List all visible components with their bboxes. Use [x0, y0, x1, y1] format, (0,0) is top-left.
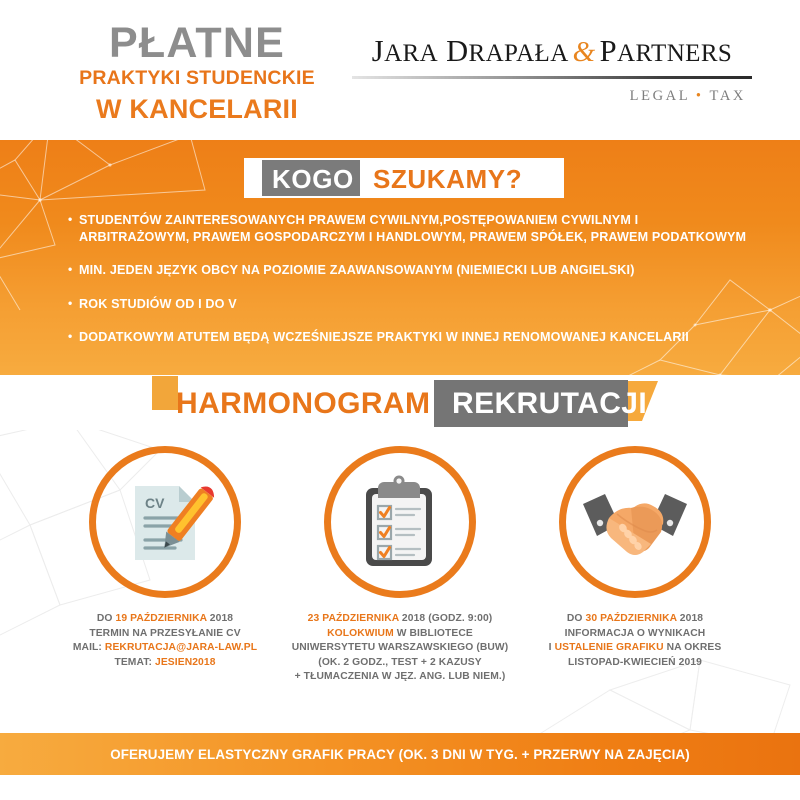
headline-block: PŁATNE PRAKTYKI STUDENCKIE W KANCELARII: [72, 22, 322, 127]
caption-line: DO 19 PAŹDZIERNIKA 2018: [32, 612, 298, 627]
step-icon-ring: [324, 446, 476, 598]
schedule-step: 23 PAŹDZIERNIKA 2018 (GODZ. 9:00) KOLOKW…: [267, 440, 533, 685]
step-icon-ring: CV: [89, 446, 241, 598]
caption-seg: LISTOPAD-KWIECIEŃ 2019: [568, 657, 702, 668]
requirement-item: ROK STUDIÓW OD I DO V: [68, 296, 748, 313]
caption-line: (OK. 2 GODZ., TEST + 2 KAZUSY: [267, 656, 533, 671]
requirement-item: MIN. JEDEN JĘZYK OBCY NA POZIOMIE ZAAWAN…: [68, 262, 748, 279]
caption-seg: 2018: [207, 613, 233, 624]
caption-line: + TŁUMACZENIA W JĘZ. ANG. LUB NIEM.): [267, 670, 533, 685]
logo-tagline: LEGAL • TAX: [352, 88, 752, 105]
caption-seg: DO: [97, 613, 116, 624]
schedule-step: CV DO 19 PAŹDZIERNIKA 2018 TERMIN NA PRZ…: [32, 440, 298, 670]
step-caption: 23 PAŹDZIERNIKA 2018 (GODZ. 9:00) KOLOKW…: [267, 612, 533, 685]
caption-seg: 2018: [677, 613, 703, 624]
firm-name-d: D: [446, 34, 468, 68]
caption-seg: KOLOKWIUM: [327, 628, 394, 639]
firm-name-rapala: RAPAŁA: [469, 40, 569, 67]
requirement-item: DODATKOWYM ATUTEM BĘDĄ WCZEŚNIEJSZE PRAK…: [68, 329, 748, 346]
caption-line: I USTALENIE GRAFIKU NA OKRES: [502, 641, 768, 656]
schedule-left-tab: [152, 376, 178, 410]
caption-line: TEMAT: JESIEN2018: [32, 656, 298, 671]
caption-seg: TERMIN NA PRZESYŁANIE CV: [89, 628, 240, 639]
schedule-title-orange: HARMONOGRAM: [176, 387, 430, 421]
caption-seg: DO: [567, 613, 586, 624]
caption-line: MAIL: REKRUTACJA@JARA-LAW.PL: [32, 641, 298, 656]
firm-name: JARA DRAPAŁA&PARTNERS: [352, 34, 752, 69]
caption-seg: 23 PAŹDZIERNIKA: [308, 613, 399, 624]
footer-text: OFERUJEMY ELASTYCZNY GRAFIK PRACY (OK. 3…: [110, 747, 690, 762]
headline-line-1: PŁATNE: [72, 22, 322, 64]
caption-seg: W BIBLIOTECE: [394, 628, 473, 639]
schedule-step: DO 30 PAŹDZIERNIKA 2018 INFORMACJA O WYN…: [502, 440, 768, 670]
schedule-title-band: HARMONOGRAM REKRUTACJI: [0, 375, 800, 435]
step-caption: DO 30 PAŹDZIERNIKA 2018 INFORMACJA O WYN…: [502, 612, 768, 670]
requirements-list: STUDENTÓW ZAINTERESOWANYCH PRAWEM CYWILN…: [68, 212, 748, 360]
caption-seg: USTALENIE GRAFIKU: [555, 642, 664, 653]
step-caption: DO 19 PAŹDZIERNIKA 2018 TERMIN NA PRZESY…: [32, 612, 298, 670]
caption-line: 23 PAŹDZIERNIKA 2018 (GODZ. 9:00): [267, 612, 533, 627]
caption-seg: NA OKRES: [664, 642, 722, 653]
caption-seg: UNIWERSYTETU WARSZAWSKIEGO (BUW): [292, 642, 509, 653]
firm-name-j: J: [372, 34, 384, 68]
caption-line: KOLOKWIUM W BIBLIOTECE: [267, 627, 533, 642]
requirements-title-band: KOGO SZUKAMY?: [0, 158, 800, 198]
caption-seg: JESIEN2018: [155, 657, 216, 668]
caption-line: DO 30 PAŹDZIERNIKA 2018: [502, 612, 768, 627]
caption-seg: + TŁUMACZENIA W JĘZ. ANG. LUB NIEM.): [295, 671, 506, 682]
requirement-item: STUDENTÓW ZAINTERESOWANYCH PRAWEM CYWILN…: [68, 212, 748, 245]
schedule-title-white: REKRUTACJI: [452, 387, 647, 421]
requirements-title-rest: SZUKAMY?: [373, 164, 522, 195]
header: PŁATNE PRAKTYKI STUDENCKIE W KANCELARII …: [0, 0, 800, 140]
requirements-title-highlight: KOGO: [272, 164, 354, 195]
headline-line-2: PRAKTYKI STUDENCKIE: [72, 64, 322, 93]
caption-seg: (OK. 2 GODZ., TEST + 2 KAZUSY: [318, 657, 481, 668]
caption-email: REKRUTACJA@JARA-LAW.PL: [105, 642, 257, 653]
handshake-icon: [579, 466, 691, 578]
svg-text:CV: CV: [145, 495, 165, 511]
firm-name-p: P: [600, 34, 617, 68]
ampersand: &: [569, 36, 600, 68]
firm-name-artners: ARTNERS: [617, 40, 732, 67]
caption-seg: 19 PAŹDZIERNIKA: [116, 613, 207, 624]
requirements-panel: KOGO SZUKAMY? STUDENTÓW ZAINTERESOWANYCH…: [0, 140, 800, 375]
caption-line: LISTOPAD-KWIECIEŃ 2019: [502, 656, 768, 671]
headline-line-3: W KANCELARII: [72, 93, 322, 127]
caption-line: UNIWERSYTETU WARSZAWSKIEGO (BUW): [267, 641, 533, 656]
tagline-tax: TAX: [710, 88, 746, 104]
caption-seg: 2018 (GODZ. 9:00): [399, 613, 492, 624]
schedule-steps: CV DO 19 PAŹDZIERNIKA 2018 TERMIN NA PRZ…: [0, 440, 800, 710]
clipboard-checklist-icon: [346, 468, 454, 576]
firm-name-ara: ARA: [384, 40, 438, 67]
caption-line: INFORMACJA O WYNIKACH: [502, 627, 768, 642]
caption-line: TERMIN NA PRZESYŁANIE CV: [32, 627, 298, 642]
logo-divider: [352, 76, 752, 79]
caption-seg: TEMAT:: [114, 657, 155, 668]
footer-banner: OFERUJEMY ELASTYCZNY GRAFIK PRACY (OK. 3…: [0, 733, 800, 775]
caption-seg: 30 PAŹDZIERNIKA: [586, 613, 677, 624]
caption-seg: INFORMACJA O WYNIKACH: [565, 628, 706, 639]
firm-logo: JARA DRAPAŁA&PARTNERS LEGAL • TAX: [352, 34, 752, 105]
poster: PŁATNE PRAKTYKI STUDENCKIE W KANCELARII …: [0, 0, 800, 800]
caption-seg: MAIL:: [73, 642, 105, 653]
cv-document-pencil-icon: CV: [111, 468, 219, 576]
step-icon-ring: [559, 446, 711, 598]
tagline-legal: LEGAL: [630, 88, 690, 104]
tagline-dot-icon: •: [696, 88, 704, 104]
